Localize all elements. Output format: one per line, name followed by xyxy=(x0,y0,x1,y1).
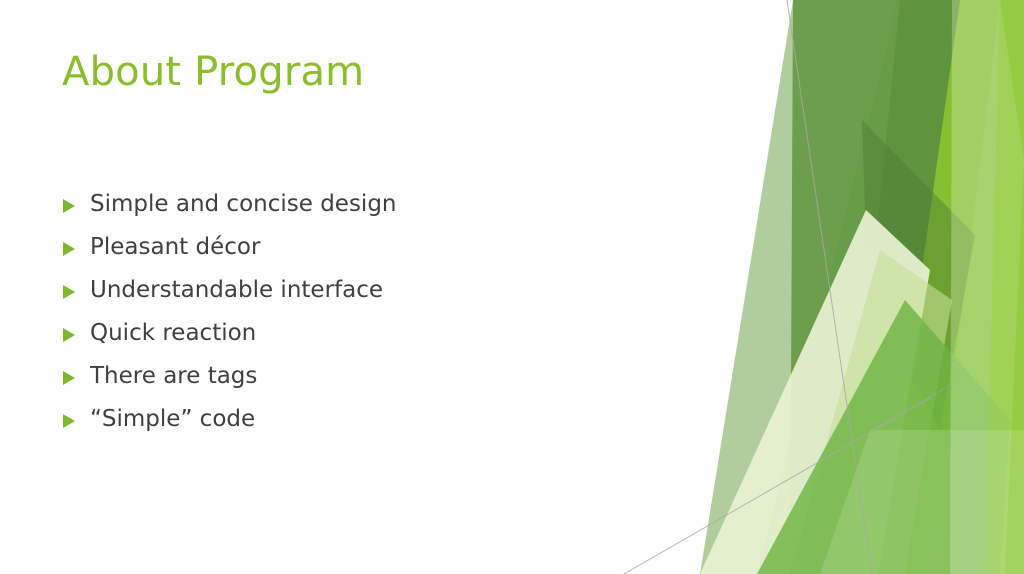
list-item-label: “Simple” code xyxy=(90,398,255,441)
list-item: Pleasant décor xyxy=(62,226,722,269)
slide-title: About Program xyxy=(62,50,702,95)
list-item-label: Simple and concise design xyxy=(90,183,397,226)
list-item-label: Pleasant décor xyxy=(90,226,260,269)
facet-shape-dark-cross-band xyxy=(862,120,975,430)
triangle-right-icon xyxy=(62,198,76,214)
slide-canvas: About Program Simple and concise design … xyxy=(0,0,1024,574)
triangle-right-icon xyxy=(62,370,76,386)
facet-shape-bright-green-column xyxy=(757,0,1000,574)
facet-shape-medium-green-wedge xyxy=(700,0,900,574)
facet-shape-palest-bottom-overlay xyxy=(820,430,1024,574)
list-item: Simple and concise design xyxy=(62,183,722,226)
list-item: There are tags xyxy=(62,355,722,398)
triangle-right-icon xyxy=(62,327,76,343)
facet-shape-light-green-overlay xyxy=(790,250,952,574)
hairline-steep xyxy=(787,0,872,574)
list-item: Quick reaction xyxy=(62,312,722,355)
facet-shape-pale-wedge xyxy=(700,210,930,574)
list-item-label: Understandable interface xyxy=(90,269,383,312)
facet-shape-pale-right-sliver xyxy=(950,0,1024,574)
list-item-label: There are tags xyxy=(90,355,257,398)
facet-shape-dark-olive-wedge xyxy=(790,0,960,574)
facet-shape-right-edge-highlight xyxy=(985,0,1024,574)
list-item: Understandable interface xyxy=(62,269,722,312)
list-item: “Simple” code xyxy=(62,398,722,441)
triangle-right-icon xyxy=(62,413,76,429)
triangle-right-icon xyxy=(62,284,76,300)
facet-shape-lower-medium-green xyxy=(757,300,1010,574)
hairline-upper-right xyxy=(872,384,952,430)
facet-shape-base-yellow-green xyxy=(800,0,1024,574)
list-item-label: Quick reaction xyxy=(90,312,256,355)
bullet-list: Simple and concise design Pleasant décor… xyxy=(62,183,722,441)
triangle-right-icon xyxy=(62,241,76,257)
